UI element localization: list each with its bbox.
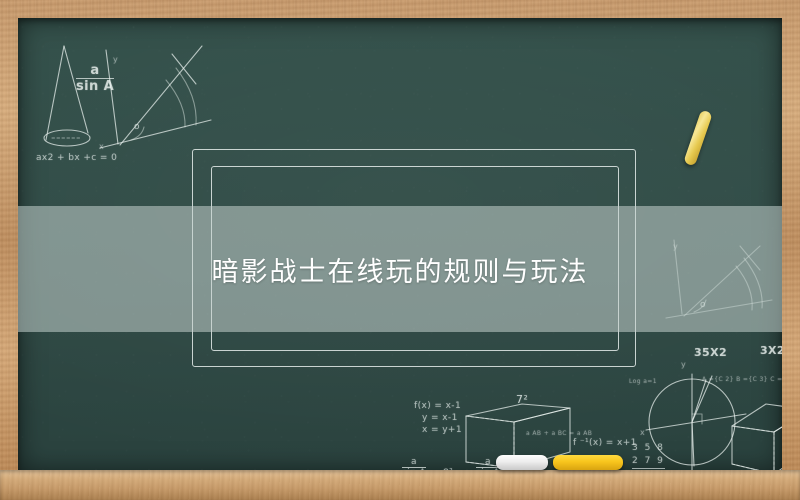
chalk-function-line-3: x = y+1 [414,424,462,436]
chalk-axis-x-label-bottomcenter: x [640,428,645,437]
chalk-stick-yellow-icon [683,110,713,167]
chalk-label-35x2: 35X2 [694,346,727,359]
chalk-subtraction-minuend: 3 5 8 [632,442,665,455]
chalk-function-line-1: f(x) = x-1 [414,400,462,412]
chalk-function-lines: f(x) = x-1 y = x-1 x = y+1 [414,400,462,436]
title-band: 暗影战士在线玩的规则与玩法 [18,206,782,332]
chalk-quadratic-formula: ax2 + bx +c = 0 [36,153,117,163]
chalk-piece-white-icon [496,455,548,470]
chalk-piece-yellow-icon [553,455,623,470]
chalk-exponent-seven-squared: 7² [516,393,528,406]
blackboard-surface: a sin A y x o ax2 + bx +c = 0 y o [18,18,782,472]
chalk-axis-y-label-bottomright: y [681,360,686,369]
chalk-micro-equation: a AB + a BC = a AB [526,430,592,437]
chalk-log-note: Log a=1 [629,378,657,385]
chalk-function-line-2: y = x-1 [414,412,462,424]
chalk-long-subtraction: 3 5 8 2 7 9 6 3 7 [632,442,665,472]
chalk-axis-x-label-topleft: x [99,142,104,151]
blackboard-banner: a sin A y x o ax2 + bx +c = 0 y o [0,0,800,500]
page-title: 暗影战士在线玩的规则与玩法 [212,250,589,289]
chalk-inverse-function: f ⁻¹(x) = x+1 [573,438,637,448]
chalk-label-3x2: 3X2 [760,344,782,357]
chalk-set-notation: A ={C 2} B ={C 3} C ={C 3} [702,376,782,383]
chalk-tray-ledge [0,470,800,500]
chalk-angle-label-topleft: o [134,122,140,132]
chalk-law-of-sines: a sin A [76,64,114,93]
chalk-axis-y-label-topleft: y [113,55,118,64]
chalk-subtraction-subtrahend: 2 7 9 [632,455,665,468]
